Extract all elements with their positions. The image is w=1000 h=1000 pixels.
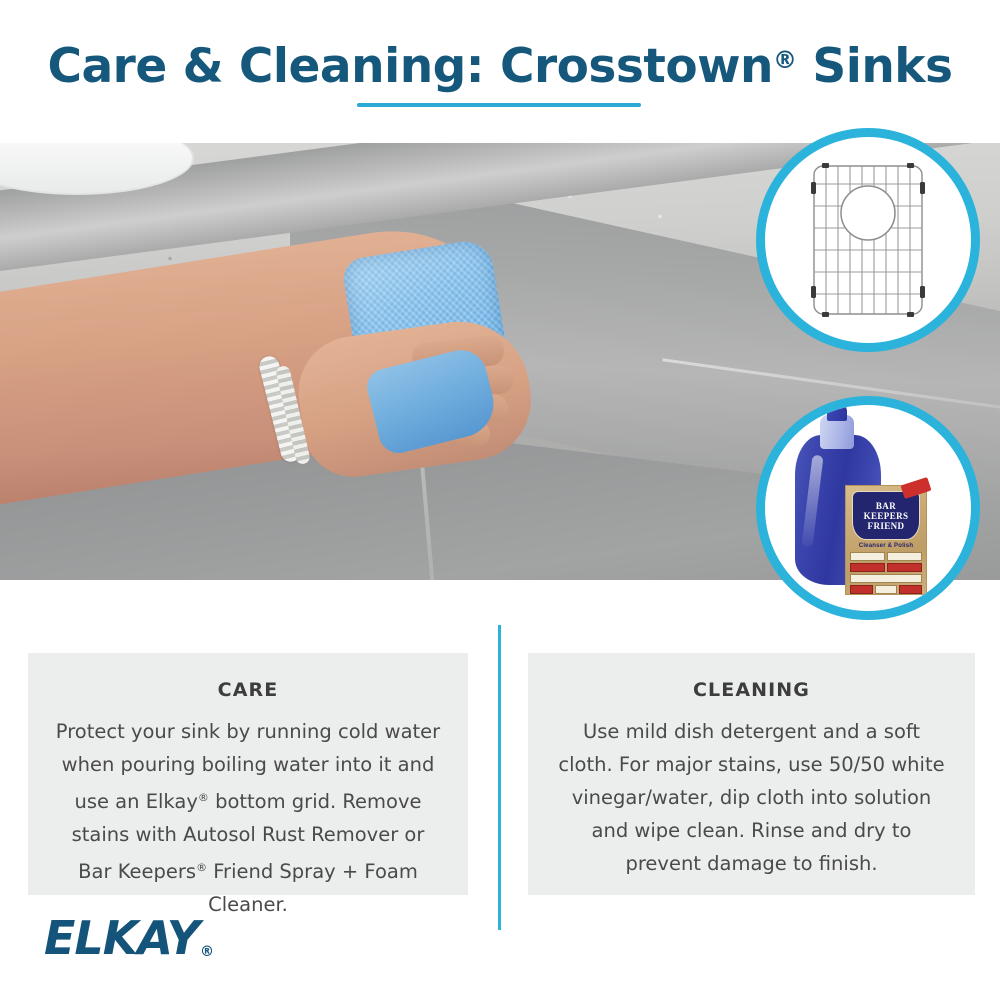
registered-trademark-icon: ®: [196, 861, 207, 874]
title-accent-rule: [357, 103, 641, 107]
bar-keepers-friend-can: BAR KEEPERS FRIEND Cleanser & Polish: [845, 485, 927, 595]
panel-care-text-3: Friend Spray + Foam Cleaner.: [207, 860, 418, 916]
callout-bottom-grid: [756, 128, 980, 352]
bkf-row: [850, 585, 922, 594]
bkf-row: [850, 563, 922, 572]
bkf-row: [850, 552, 922, 561]
registered-trademark-icon: ®: [200, 944, 213, 960]
bkf-chip: [850, 563, 885, 572]
bkf-line2: KEEPERS: [864, 511, 909, 521]
registered-trademark-icon: ®: [773, 46, 797, 74]
bkf-chip: [875, 585, 898, 594]
bkf-chip: [850, 585, 873, 594]
panel-divider: [498, 625, 501, 930]
bottom-grid-icon: [808, 160, 928, 320]
panel-cleaning-heading: CLEANING: [554, 679, 949, 701]
bkf-chip: [850, 574, 922, 583]
bkf-chip: [887, 563, 922, 572]
bkf-detail-rows: [850, 552, 922, 594]
bkf-row: [850, 574, 922, 583]
page-title-main: Care & Cleaning: Crosstown: [47, 39, 773, 94]
callout-cleaning-products: BAR KEEPERS FRIEND Cleanser & Polish: [756, 396, 980, 620]
bkf-chip: [899, 585, 922, 594]
bkf-chip: [850, 552, 885, 561]
panel-cleaning-body: Use mild dish detergent and a soft cloth…: [554, 715, 949, 880]
page-title: Care & Cleaning: Crosstown® Sinks: [0, 34, 1000, 93]
elkay-wordmark: ELKAY: [44, 911, 199, 965]
panel-cleaning-text-1: Use mild dish detergent and a soft cloth…: [558, 720, 944, 875]
bkf-shield-logo: BAR KEEPERS FRIEND: [852, 491, 920, 540]
panel-care: CARE Protect your sink by running cold w…: [28, 653, 468, 895]
bkf-chip: [887, 552, 922, 561]
bkf-line1: BAR: [876, 501, 896, 511]
bkf-subtitle: Cleanser & Polish: [859, 543, 913, 549]
panel-care-body: Protect your sink by running cold water …: [54, 715, 442, 921]
registered-trademark-icon: ®: [198, 791, 209, 804]
panel-cleaning: CLEANING Use mild dish detergent and a s…: [528, 653, 975, 895]
header: Care & Cleaning: Crosstown® Sinks: [0, 0, 1000, 143]
page-title-suffix: Sinks: [797, 39, 953, 94]
dish-soap-cap: [827, 405, 847, 421]
elkay-logo: ELKAY®: [44, 915, 213, 975]
infographic-page: Care & Cleaning: Crosstown® Sinks: [0, 0, 1000, 1000]
bkf-line3: FRIEND: [868, 521, 905, 531]
panel-care-heading: CARE: [54, 679, 442, 701]
product-group: BAR KEEPERS FRIEND Cleanser & Polish: [773, 413, 963, 603]
